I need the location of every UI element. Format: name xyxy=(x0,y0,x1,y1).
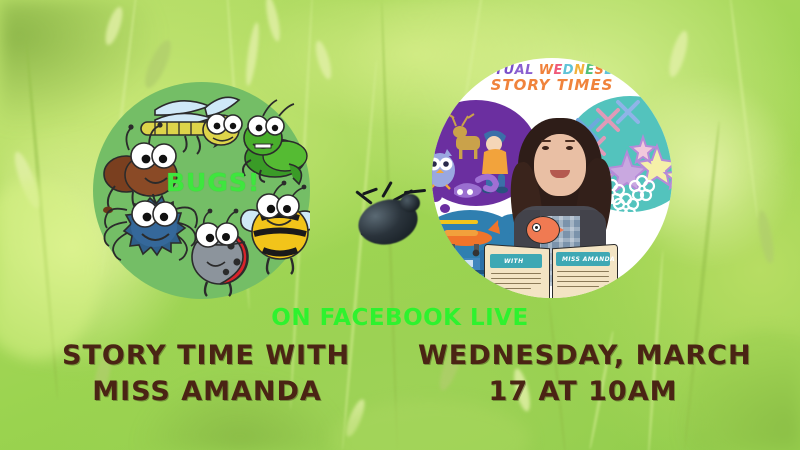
story-time-poster: BUGS! VIRTUAL WEDNESDAY STORY TIMES xyxy=(0,0,800,450)
title-letter: Y xyxy=(626,64,636,78)
title-letter: V xyxy=(468,64,478,78)
real-beetle-on-grass-stem xyxy=(352,188,426,250)
dragonfly-icon xyxy=(141,97,242,154)
fish-body xyxy=(526,216,560,244)
left-headline-line1: STORY TIME WITH xyxy=(62,340,350,371)
eye-right xyxy=(566,146,573,150)
book-with-text: WITH xyxy=(504,258,524,265)
fish-eye xyxy=(532,223,541,232)
face xyxy=(534,134,586,196)
open-book: WITH MISS AMANDA xyxy=(484,244,618,298)
eye-left xyxy=(542,146,549,150)
book-miss-amanda-text: MISS AMANDA xyxy=(562,256,615,263)
eyebrow-left xyxy=(541,140,551,142)
cat-icon xyxy=(454,177,496,198)
title-letter: A xyxy=(615,64,625,78)
beetle-head xyxy=(400,194,420,212)
orange-fish-icon xyxy=(520,216,564,242)
ladybug-icon xyxy=(192,209,248,296)
sailboat-icon xyxy=(432,254,458,294)
deer-icon xyxy=(448,114,480,159)
facebook-live-heading: ON FACEBOOK LIVE xyxy=(0,305,800,331)
eyebrow-right xyxy=(565,140,575,142)
right-headline: WEDNESDAY, MARCH 17 AT 10AM xyxy=(418,338,752,409)
right-headline-line1: WEDNESDAY, MARCH xyxy=(418,340,752,371)
virtual-wednesday-story-times-graphic: VIRTUAL WEDNESDAY STORY TIMES xyxy=(432,58,672,298)
owl-icon xyxy=(432,149,455,189)
left-headline: STORY TIME WITH MISS AMANDA xyxy=(62,338,352,409)
story-times-title: VIRTUAL WEDNESDAY STORY TIMES xyxy=(432,64,672,92)
left-headline-line2: MISS AMANDA xyxy=(62,374,352,410)
story-times-title-line2: STORY TIMES xyxy=(432,78,672,92)
spider-icon xyxy=(105,196,198,260)
bugs-label: BUGS! xyxy=(166,168,260,197)
book-page-left xyxy=(484,244,550,298)
right-headline-line2: 17 AT 10AM xyxy=(418,374,748,410)
